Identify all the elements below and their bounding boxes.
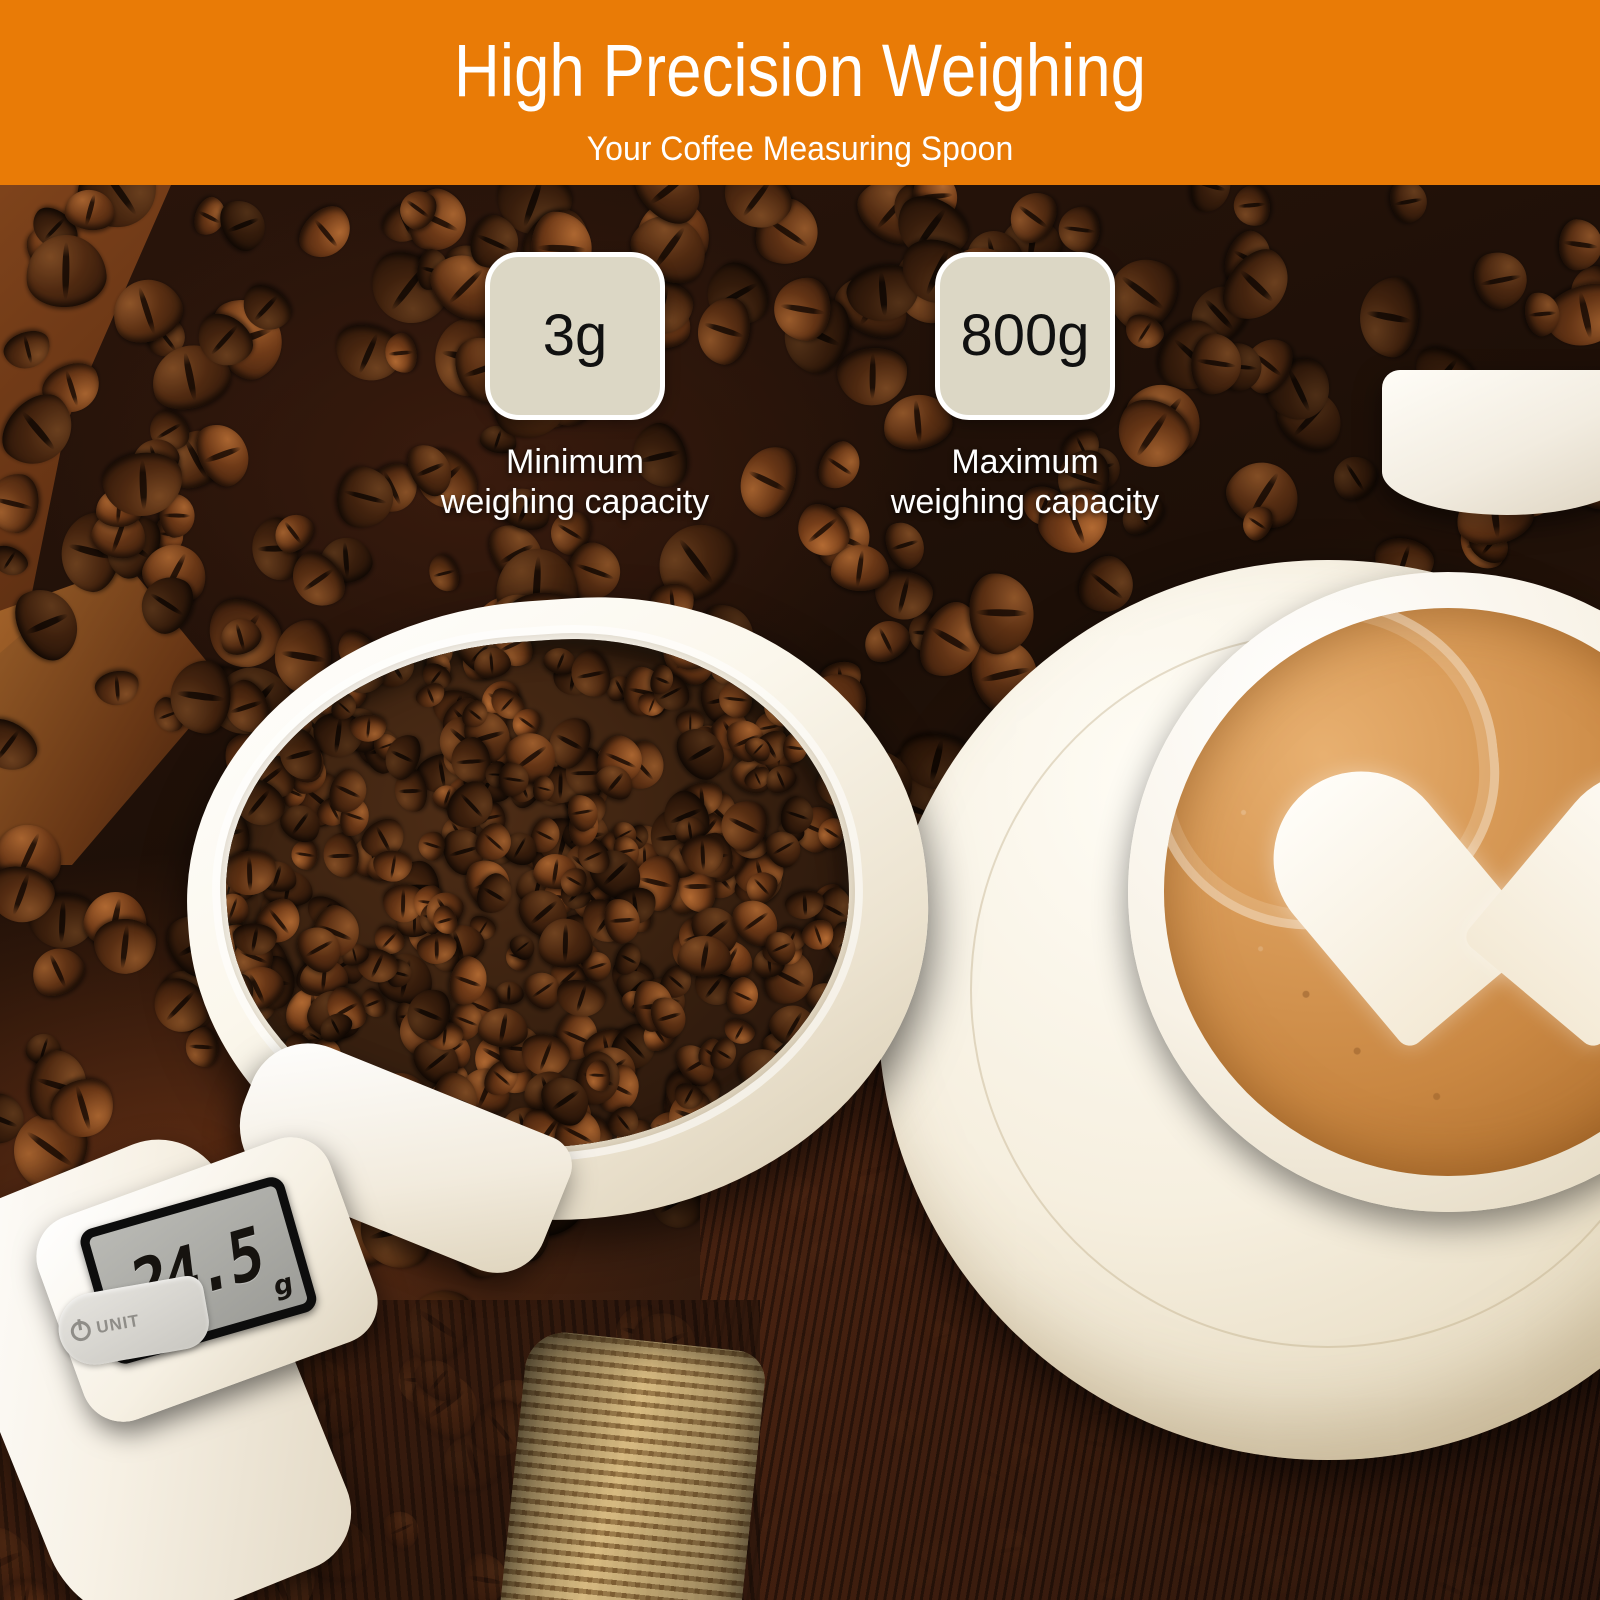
- badge-box-maximum: 800g: [935, 252, 1115, 420]
- badge-box-minimum: 3g: [485, 252, 665, 420]
- badge-value-maximum: 800g: [960, 307, 1089, 365]
- badge-maximum: 800g Maximum weighing capacity: [790, 252, 1260, 522]
- badge-minimum: 3g Minimum weighing capacity: [340, 252, 810, 522]
- banner-subtitle: Your Coffee Measuring Spoon: [48, 108, 1552, 166]
- badge-label-maximum: Maximum weighing capacity: [790, 442, 1260, 522]
- header-banner: High Precision Weighing Your Coffee Meas…: [0, 0, 1600, 185]
- banner-title: High Precision Weighing: [112, 0, 1488, 108]
- badge-label-minimum-line1: Minimum: [340, 442, 810, 482]
- capacity-badges: 3g Minimum weighing capacity 800g Maximu…: [0, 0, 1600, 1600]
- badge-label-minimum-line2: weighing capacity: [340, 482, 810, 522]
- badge-label-minimum: Minimum weighing capacity: [340, 442, 810, 522]
- product-marketing-image: 24.5 g UNIT 3g Minimum weighing capacity…: [0, 0, 1600, 1600]
- badge-label-maximum-line2: weighing capacity: [790, 482, 1260, 522]
- badge-label-maximum-line1: Maximum: [790, 442, 1260, 482]
- badge-value-minimum: 3g: [543, 307, 608, 365]
